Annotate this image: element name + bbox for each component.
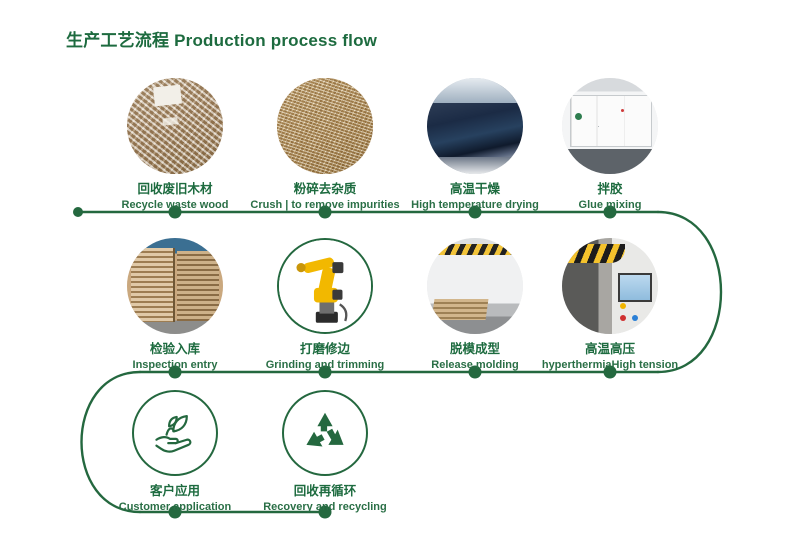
step-label-en: Crush | to remove impurities bbox=[250, 199, 399, 212]
process-step-recovery-and-recycling[interactable]: 回收再循环 Recovery and recycling bbox=[250, 390, 400, 514]
step-image-grinding-and-trimming bbox=[277, 238, 373, 334]
step-label-en: Grinding and trimming bbox=[266, 359, 385, 372]
step-label-en: Customer application bbox=[119, 501, 231, 514]
step-image-inspection-entry bbox=[127, 238, 223, 334]
step-label-cn: 回收废旧木材 bbox=[137, 182, 212, 198]
step-label-cn: 高温干燥 bbox=[450, 182, 500, 198]
step-label-cn: 回收再循环 bbox=[294, 484, 357, 500]
step-label-cn: 拌胶 bbox=[597, 182, 622, 198]
step-icon-recovery-and-recycling bbox=[282, 390, 368, 476]
step-label-cn: 客户应用 bbox=[150, 484, 200, 500]
step-label-cn: 脱模成型 bbox=[450, 342, 500, 358]
process-step-high-temperature-drying[interactable]: 高温干燥 High temperature drying bbox=[400, 78, 550, 212]
recycling-symbol-icon bbox=[298, 406, 352, 460]
step-image-hyperthermia-high-tension bbox=[562, 238, 658, 334]
step-label-en: Recovery and recycling bbox=[263, 501, 387, 514]
process-step-customer-application[interactable]: 客户应用 Customer application bbox=[100, 390, 250, 514]
step-label-en: Inspection entry bbox=[133, 359, 218, 372]
step-icon-customer-application bbox=[132, 390, 218, 476]
process-step-crush-remove-impurities[interactable]: 粉碎去杂质 Crush | to remove impurities bbox=[250, 78, 400, 212]
process-step-glue-mixing[interactable]: 拌胶 Glue mixing bbox=[535, 78, 685, 212]
process-step-inspection-entry[interactable]: 检验入库 Inspection entry bbox=[100, 238, 250, 372]
step-label-en: Recycle waste wood bbox=[122, 199, 229, 212]
step-label-cn: 检验入库 bbox=[150, 342, 200, 358]
step-label-en: Glue mixing bbox=[579, 199, 642, 212]
step-image-high-temperature-drying bbox=[427, 78, 523, 174]
hand-holding-plant-icon bbox=[148, 406, 202, 460]
step-image-crush-remove-impurities bbox=[277, 78, 373, 174]
step-label-en: Release molding bbox=[431, 359, 518, 372]
process-step-release-molding[interactable]: 脱模成型 Release molding bbox=[400, 238, 550, 372]
process-step-hyperthermia-high-tension[interactable]: 高温高压 hyperthermiaHigh tension bbox=[535, 238, 685, 372]
production-process-flow-infographic: 生产工艺流程 Production process flow bbox=[0, 0, 804, 533]
step-image-release-molding bbox=[427, 238, 523, 334]
step-label-cn: 高温高压 bbox=[585, 342, 635, 358]
robot-arm-icon bbox=[279, 240, 371, 332]
step-image-glue-mixing bbox=[562, 78, 658, 174]
step-label-en: High temperature drying bbox=[411, 199, 539, 212]
step-label-en: hyperthermiaHigh tension bbox=[542, 359, 678, 372]
step-label-cn: 打磨修边 bbox=[300, 342, 350, 358]
process-step-grinding-and-trimming[interactable]: 打磨修边 Grinding and trimming bbox=[250, 238, 400, 372]
flow-dot-start bbox=[73, 207, 83, 217]
step-image-recycle-waste-wood bbox=[127, 78, 223, 174]
step-label-cn: 粉碎去杂质 bbox=[294, 182, 357, 198]
process-step-recycle-waste-wood[interactable]: 回收废旧木材 Recycle waste wood bbox=[100, 78, 250, 212]
